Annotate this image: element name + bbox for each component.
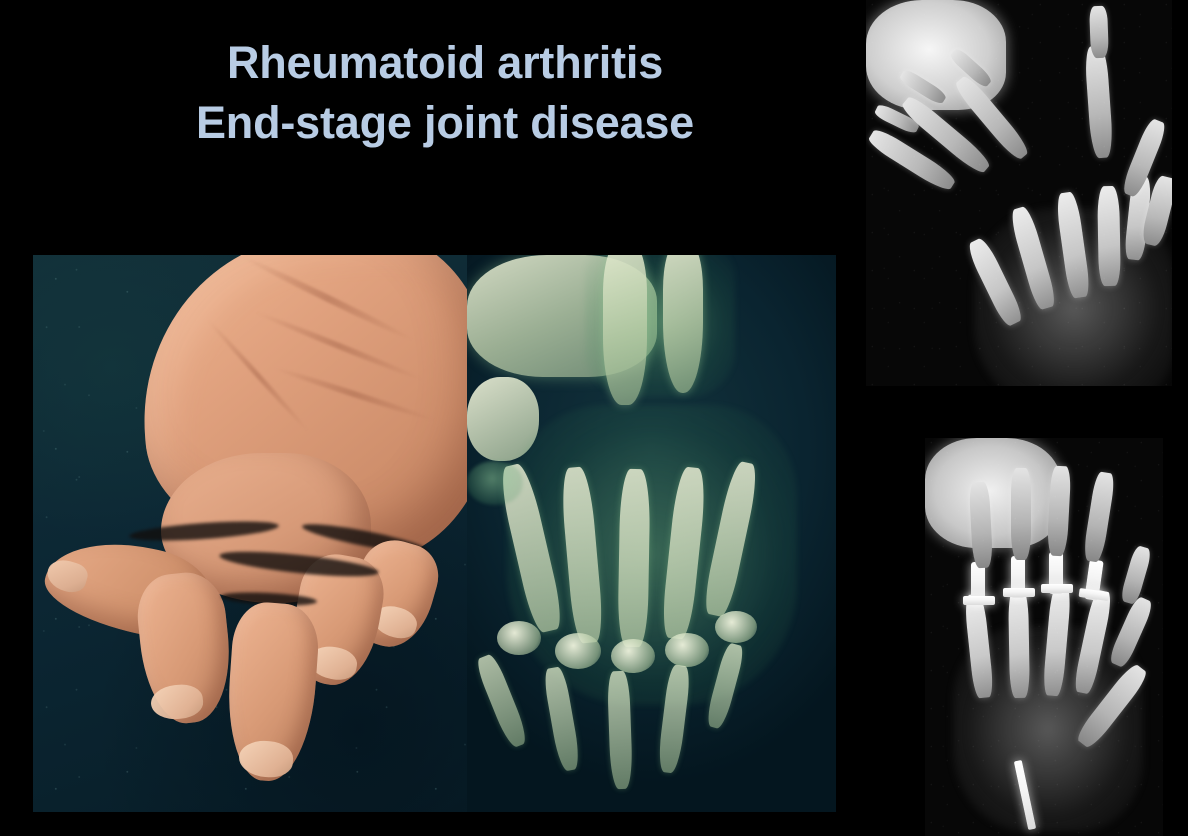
radiograph-ulnar-deviation [866,0,1172,386]
mcp-head-erosion [497,621,541,655]
digit-index [1084,45,1114,158]
proximal-phalanx [1082,471,1116,563]
mcp-implant-flange [963,596,995,605]
thumb-distal-phalanx [1119,545,1152,606]
mcp-head-erosion [665,633,709,667]
soft-tissue-nodule [467,461,523,505]
title-line-1: Rheumatoid arthritis [0,33,890,93]
proximal-phalanx [1011,468,1031,560]
mcp-head-erosion [715,611,757,643]
title-line-2: End-stage joint disease [0,93,890,153]
mcp-implant-flange [1079,588,1110,601]
radiograph-mcp-arthroplasty [925,438,1163,836]
third-metacarpal [1008,588,1030,698]
mcp-implant-flange [1041,584,1073,593]
green-tinted-radiograph-hand [467,255,836,812]
page-title: Rheumatoid arthritis End-stage joint dis… [0,33,890,153]
composite-figure-panel [33,255,836,812]
phalanx-subluxed [474,652,530,749]
ulna-bone [663,255,703,393]
third-metacarpal [617,469,650,647]
mcp-implant-flange [1003,588,1035,597]
fourth-metacarpal [1097,186,1121,286]
radius-bone [603,255,647,405]
clinical-photograph-hand [33,255,467,812]
carpal-bones [925,438,1061,548]
proximal-phalanx [1047,466,1072,557]
mcp-head-erosion [555,633,601,669]
distal-phalanx [1089,6,1109,59]
slide-canvas: Rheumatoid arthritis End-stage joint dis… [0,0,1188,836]
mcp-head-erosion [611,639,655,673]
